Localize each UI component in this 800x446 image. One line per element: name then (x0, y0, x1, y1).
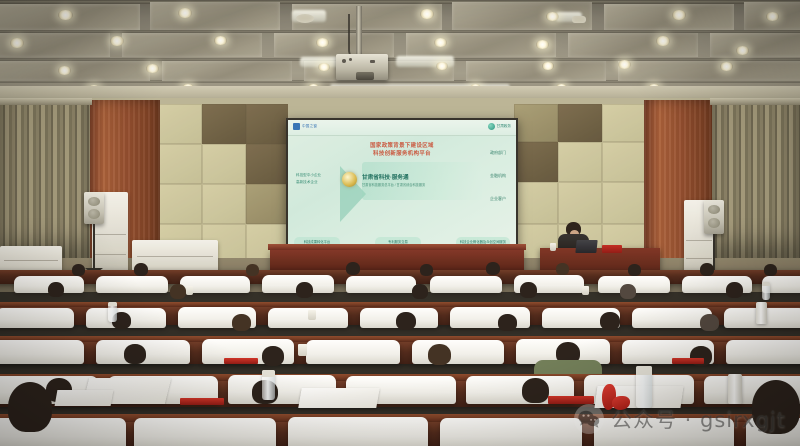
blinds-headrail-right (710, 98, 800, 105)
slide-header: 中国之窗 甘肃政务 (288, 120, 516, 136)
attendee-head (498, 314, 517, 331)
chair-cover (0, 340, 84, 364)
downlight (178, 8, 192, 18)
chair-cover (96, 276, 168, 293)
attendee-head (246, 264, 259, 276)
slide-center-title: 甘肃省科技·服务通 (362, 173, 409, 181)
slide-right-label-3: 企业客户 (490, 196, 506, 202)
downlight (10, 38, 24, 48)
presenter-nameplate (602, 245, 622, 253)
water-bottle (108, 302, 117, 322)
downlight (58, 10, 73, 20)
chair-cover (430, 276, 502, 293)
slide-center-subtitle: 甘肃省科技服务总平台 / 甘肃省综合科技服务 (362, 182, 425, 187)
presenter-cup (550, 243, 556, 251)
downlight (736, 46, 749, 55)
attendee-head (700, 314, 719, 331)
attendee-head (522, 378, 549, 403)
red-folder (672, 358, 704, 364)
projector-lens (356, 72, 374, 80)
slide-emblem-icon (342, 172, 357, 187)
slide-right-label-2: 金融机构 (490, 173, 506, 179)
window-blinds-left[interactable] (0, 98, 90, 260)
slide-title: 国家政策背景下建设区域 科技创新服务机构平台 (288, 142, 516, 158)
slide-right-logo-mark (488, 123, 495, 130)
attendee-head (420, 264, 433, 276)
thermos-flask (756, 302, 767, 324)
slide-title-line-2: 科技创新服务机构平台 (288, 150, 516, 158)
attendee-head (764, 264, 777, 276)
attendee-head (72, 264, 85, 276)
slide-left-labels: 科技型中小企业 高新技术企业 (296, 172, 321, 186)
downlight (546, 12, 559, 21)
attendee-head (600, 312, 620, 330)
downlight (766, 12, 779, 21)
attendee-head (520, 282, 537, 298)
attendee-head (48, 282, 64, 297)
chair-cover (450, 307, 530, 328)
ceiling-vent (296, 14, 314, 23)
attendee-head (628, 264, 641, 276)
speaker-right (704, 200, 724, 234)
downlight (434, 38, 447, 47)
downlight (318, 63, 330, 71)
downlight (146, 64, 159, 73)
attendee-head (620, 284, 636, 299)
attendee-head-front-left (8, 382, 52, 432)
slide-center-panel (362, 162, 482, 200)
conference-hall-photo: 中国之窗 甘肃政务 国家政策背景下建设区域 科技创新服务机构平台 甘肃省科技·服… (0, 0, 800, 446)
slide-left-logo-text: 中国之窗 (302, 124, 317, 129)
audience-area (0, 262, 800, 446)
attendee-head (170, 284, 186, 299)
attendee-head-front-right (752, 380, 800, 434)
thermos-flask (728, 374, 742, 404)
slide-right-logo-text: 甘肃政务 (497, 124, 511, 129)
red-folder (548, 396, 594, 404)
attendee-head (428, 344, 451, 365)
slide-right-logo: 甘肃政务 (488, 123, 511, 130)
projection-screen: 中国之窗 甘肃政务 国家政策背景下建设区域 科技创新服务机构平台 甘肃省科技·服… (286, 118, 518, 259)
attendee-head (726, 282, 743, 298)
window-blinds-right[interactable] (712, 98, 800, 260)
ceiling (0, 0, 800, 98)
document-sheet (298, 388, 380, 408)
downlight (720, 62, 733, 71)
attendee-head (700, 263, 714, 276)
chair-cover (346, 276, 416, 293)
attendee-head (486, 262, 500, 275)
chair-cover (594, 418, 734, 446)
chair-cover (288, 417, 428, 446)
red-folder (224, 358, 258, 364)
speaker-left (84, 192, 104, 224)
downlight (656, 36, 670, 46)
chair-cover (440, 418, 582, 446)
slide-right-label-1: 政府部门 (490, 150, 506, 156)
attendee-head (124, 344, 146, 364)
attendee-head (296, 282, 313, 298)
water-bottle (262, 370, 275, 400)
slide-left-logo: 中国之窗 (293, 123, 317, 130)
downlight (110, 36, 124, 46)
document-sheet (55, 390, 114, 406)
downlight (542, 62, 554, 70)
downlight (536, 40, 549, 49)
downlight (58, 66, 71, 75)
chair-cover (134, 418, 276, 446)
attendee-head (232, 314, 251, 331)
paper-cup (186, 286, 193, 295)
water-bottle (636, 366, 652, 408)
attendee-head (412, 284, 428, 299)
slide-left-logo-mark (293, 123, 300, 130)
attendee-head (396, 312, 416, 330)
slide-title-line-1: 国家政策背景下建设区域 (288, 142, 516, 150)
attendee-head (556, 263, 569, 275)
attendee-head (262, 346, 284, 366)
downlight (618, 60, 631, 69)
red-folder (180, 398, 224, 405)
downlight (436, 62, 448, 70)
downlight (214, 36, 227, 45)
water-bottle (762, 282, 770, 300)
chair-cover (412, 340, 504, 364)
paper-cup (308, 310, 316, 320)
presenter-laptop (575, 240, 597, 253)
attendee-head (134, 263, 148, 276)
paper-cup (582, 286, 589, 295)
downlight (316, 38, 329, 47)
chair-cover (726, 340, 800, 364)
ceiling-speaker (572, 16, 586, 23)
attendee-head (346, 262, 360, 275)
downlight (420, 9, 434, 19)
chair-cover (306, 340, 400, 364)
chair-cover (0, 308, 74, 328)
projector-mount-pole (356, 6, 362, 56)
blinds-headrail-left (0, 98, 92, 105)
downlight (672, 10, 686, 20)
paper-cup (298, 344, 307, 356)
slide-right-labels: 政府部门 金融机构 企业客户 (490, 150, 506, 219)
